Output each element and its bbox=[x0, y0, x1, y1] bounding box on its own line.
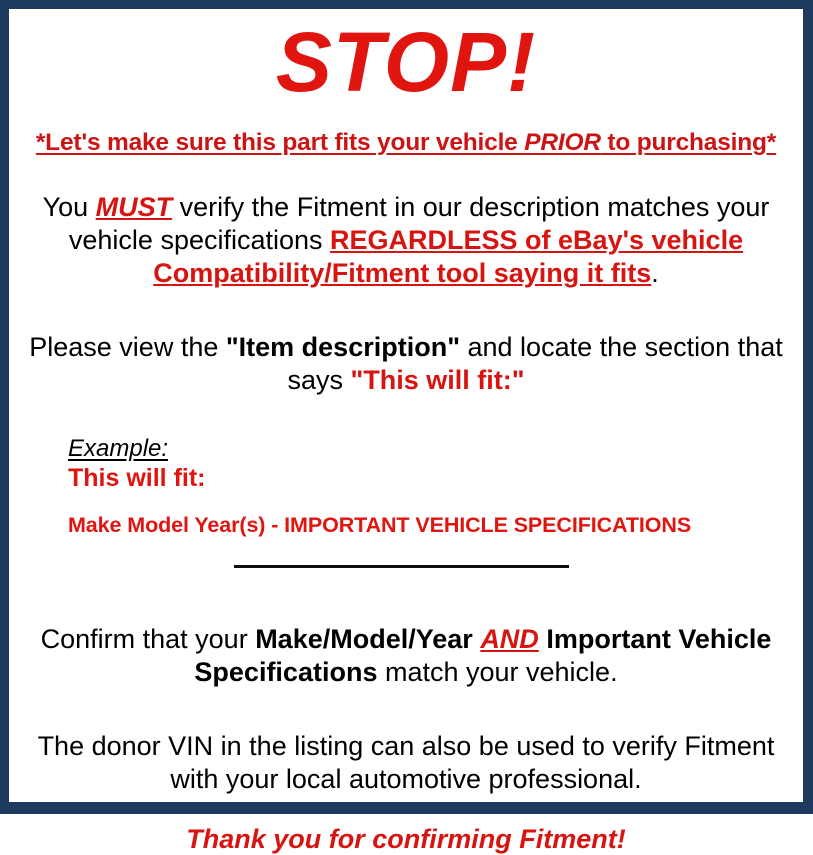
tagline-lead: *Let's make sure this part fits your veh… bbox=[36, 129, 524, 156]
must-emphasis: MUST bbox=[96, 192, 173, 222]
must-text-part3: . bbox=[651, 258, 659, 288]
paragraph-must-verify: You MUST verify the Fitment in our descr… bbox=[21, 191, 791, 290]
tagline-tail: to purchasing* bbox=[601, 129, 776, 156]
confirm-text-part4: match your vehicle. bbox=[377, 657, 617, 687]
divider-wrapper bbox=[21, 565, 791, 577]
paragraph-confirm: Confirm that your Make/Model/Year AND Im… bbox=[21, 623, 791, 689]
item-description-emphasis: "Item description" bbox=[226, 332, 460, 362]
thank-you-line: Thank you for confirming Fitment! bbox=[21, 823, 791, 855]
paragraph-view-description: Please view the "Item description" and l… bbox=[21, 331, 791, 397]
and-emphasis: AND bbox=[480, 624, 539, 654]
confirm-text-part1: Confirm that your bbox=[41, 624, 256, 654]
this-will-fit-emphasis: "This will fit:" bbox=[350, 365, 524, 395]
section-divider bbox=[234, 565, 569, 568]
fitment-notice-card: STOP! *Let's make sure this part fits yo… bbox=[0, 0, 813, 814]
must-text-part1: You bbox=[43, 192, 96, 222]
make-model-year-emphasis: Make/Model/Year bbox=[255, 624, 473, 654]
tagline-banner: *Let's make sure this part fits your veh… bbox=[21, 130, 791, 157]
example-fit-heading: This will fit: bbox=[68, 463, 791, 493]
view-text-part1: Please view the bbox=[29, 332, 226, 362]
stop-headline: STOP! bbox=[21, 20, 791, 104]
example-label: Example: bbox=[68, 435, 791, 463]
notice-content: STOP! *Let's make sure this part fits yo… bbox=[9, 20, 803, 813]
example-block: Example: This will fit: Make Model Year(… bbox=[21, 435, 791, 539]
paragraph-donor-vin: The donor VIN in the listing can also be… bbox=[21, 730, 791, 796]
example-spec-line: Make Model Year(s) - IMPORTANT VEHICLE S… bbox=[68, 513, 791, 539]
tagline-emphasis-prior: PRIOR bbox=[524, 129, 601, 156]
